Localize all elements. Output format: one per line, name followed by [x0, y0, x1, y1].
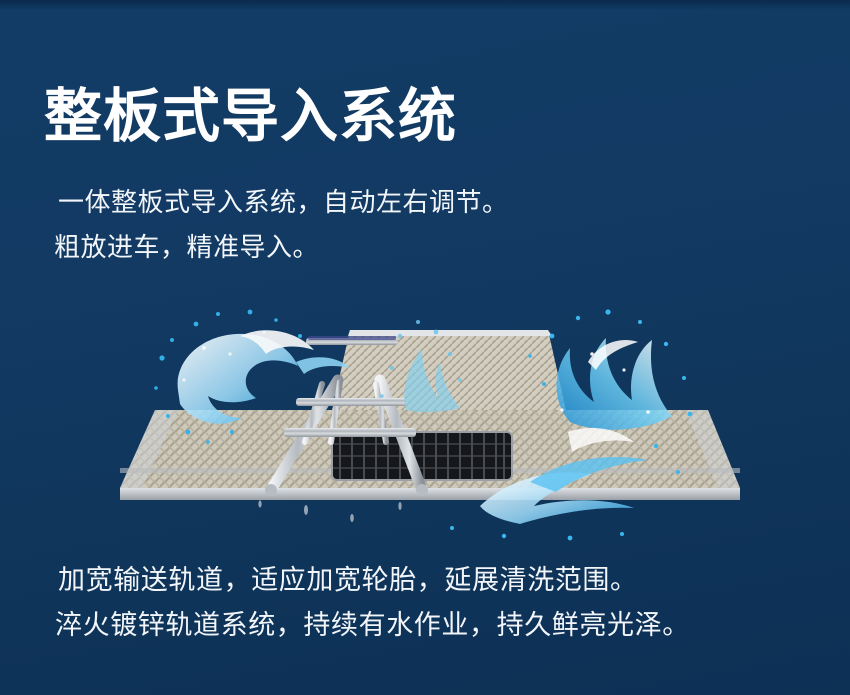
water-drips	[258, 500, 401, 522]
footer-line-2: 淬火镀锌轨道系统，持续有水作业，持久鲜亮光泽。	[55, 603, 690, 648]
subtitle-line-2: 粗放进车，精准导入。	[52, 225, 509, 270]
top-accent-band	[0, 0, 850, 9]
page-title: 整板式导入系统	[44, 84, 457, 150]
footer-line-1: 加宽输送轨道，适应加宽轮胎，延展清洗范围。	[55, 558, 690, 603]
subtitle-line-1: 一体整板式导入系统，自动左右调节。	[52, 180, 509, 225]
promo-banner: 整板式导入系统 一体整板式导入系统，自动左右调节。 粗放进车，精准导入。	[0, 0, 850, 695]
subtitle-block: 一体整板式导入系统，自动左右调节。 粗放进车，精准导入。	[52, 180, 509, 270]
footer-copy-block: 加宽输送轨道，适应加宽轮胎，延展清洗范围。 淬火镀锌轨道系统，持续有水作业，持久…	[55, 558, 690, 648]
product-illustration	[100, 292, 740, 542]
